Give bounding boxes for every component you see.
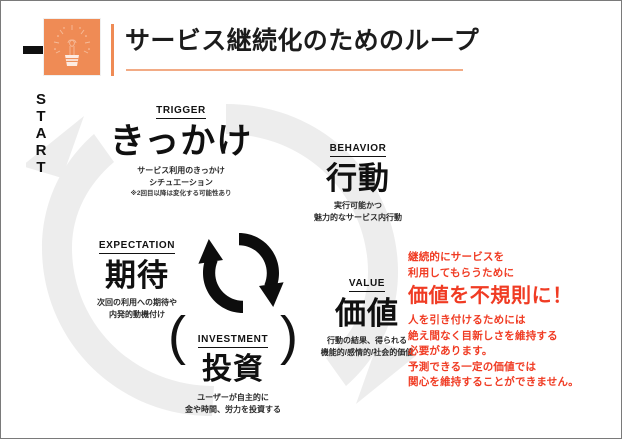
node-description: 次回の利用への期待や 内発的動機付け (69, 297, 205, 320)
node-title: 行動 (287, 160, 429, 197)
node-desc-line: 金や時間、労力を投資する (159, 404, 307, 416)
node-description: 実行可能かつ 魅力的なサービス内行動 (287, 200, 429, 223)
paren-right: ) (280, 309, 298, 363)
node-desc-line: 実行可能かつ (287, 200, 429, 212)
slide-canvas: サービス継続化のためのループ S T A R T TRIGGER きっかけ サー… (0, 0, 622, 439)
investment-paren-wrap: ( ) INVESTMENT 投資 (159, 329, 307, 389)
start-letter: S (33, 91, 49, 108)
node-description: ユーザーが自主的に 金や時間、労力を投資する (159, 392, 307, 415)
node-desc-line: 内発的動機付け (69, 309, 205, 321)
callout-body-line: 絶え間なく目新しさを維持する (408, 329, 608, 345)
callout-body-line: 関心を維持することができません。 (408, 375, 608, 391)
node-investment: ( ) INVESTMENT 投資 ユーザーが自主的に 金や時間、労力を投資する (159, 329, 307, 415)
node-title: 期待 (69, 257, 205, 294)
node-desc-line: 魅力的なサービス内行動 (287, 212, 429, 224)
callout-body-line: 予測できる一定の価値では (408, 360, 608, 376)
title-block: サービス継続化のためのループ (111, 24, 463, 76)
node-expectation: EXPECTATION 期待 次回の利用への期待や 内発的動機付け (69, 235, 205, 320)
node-note: ※2回目以降は変化する可能性あり (105, 188, 257, 200)
callout-red: 継続的にサービスを 利用してもらうために 価値を不規則に！ 人を引き付けるために… (408, 250, 608, 391)
circular-loop-arrows-icon (197, 229, 285, 317)
callout-headline: 価値を不規則に！ (408, 283, 608, 309)
callout-body-line: 必要があります。 (408, 344, 608, 360)
title-underline (126, 69, 463, 71)
node-eyebrow: INVESTMENT (198, 334, 268, 348)
brand-logo (43, 18, 101, 76)
node-eyebrow: EXPECTATION (99, 240, 175, 254)
node-eyebrow: TRIGGER (156, 105, 206, 119)
lightbulb-plant-icon (44, 19, 100, 75)
node-desc-line: サービス利用のきっかけ (105, 165, 257, 177)
start-letter: T (33, 159, 49, 176)
callout-intro-line: 利用してもらうために (408, 266, 608, 282)
start-letter: T (33, 108, 49, 125)
node-eyebrow: VALUE (349, 278, 385, 292)
page-title: サービス継続化のためのループ (125, 24, 463, 58)
node-trigger: TRIGGER きっかけ サービス利用のきっかけ シチュエーション ※2回目以降… (105, 100, 257, 200)
node-title: きっかけ (105, 122, 257, 162)
start-letter: R (33, 142, 49, 159)
node-desc-line: 次回の利用への期待や (69, 297, 205, 309)
start-label: S T A R T (33, 91, 49, 176)
callout-intro-line: 継続的にサービスを (408, 250, 608, 266)
start-letters: S T A R T (33, 91, 49, 176)
node-eyebrow: BEHAVIOR (330, 143, 387, 157)
node-description: サービス利用のきっかけ シチュエーション ※2回目以降は変化する可能性あり (105, 165, 257, 200)
callout-body-line: 人を引き付けるためには (408, 313, 608, 329)
node-behavior: BEHAVIOR 行動 実行可能かつ 魅力的なサービス内行動 (287, 138, 429, 223)
node-desc-line: ユーザーが自主的に (159, 392, 307, 404)
header: サービス継続化のためのループ (43, 18, 463, 80)
node-desc-line: シチュエーション (105, 177, 257, 189)
loop-arrows-svg (197, 229, 285, 317)
start-letter: A (33, 125, 49, 142)
